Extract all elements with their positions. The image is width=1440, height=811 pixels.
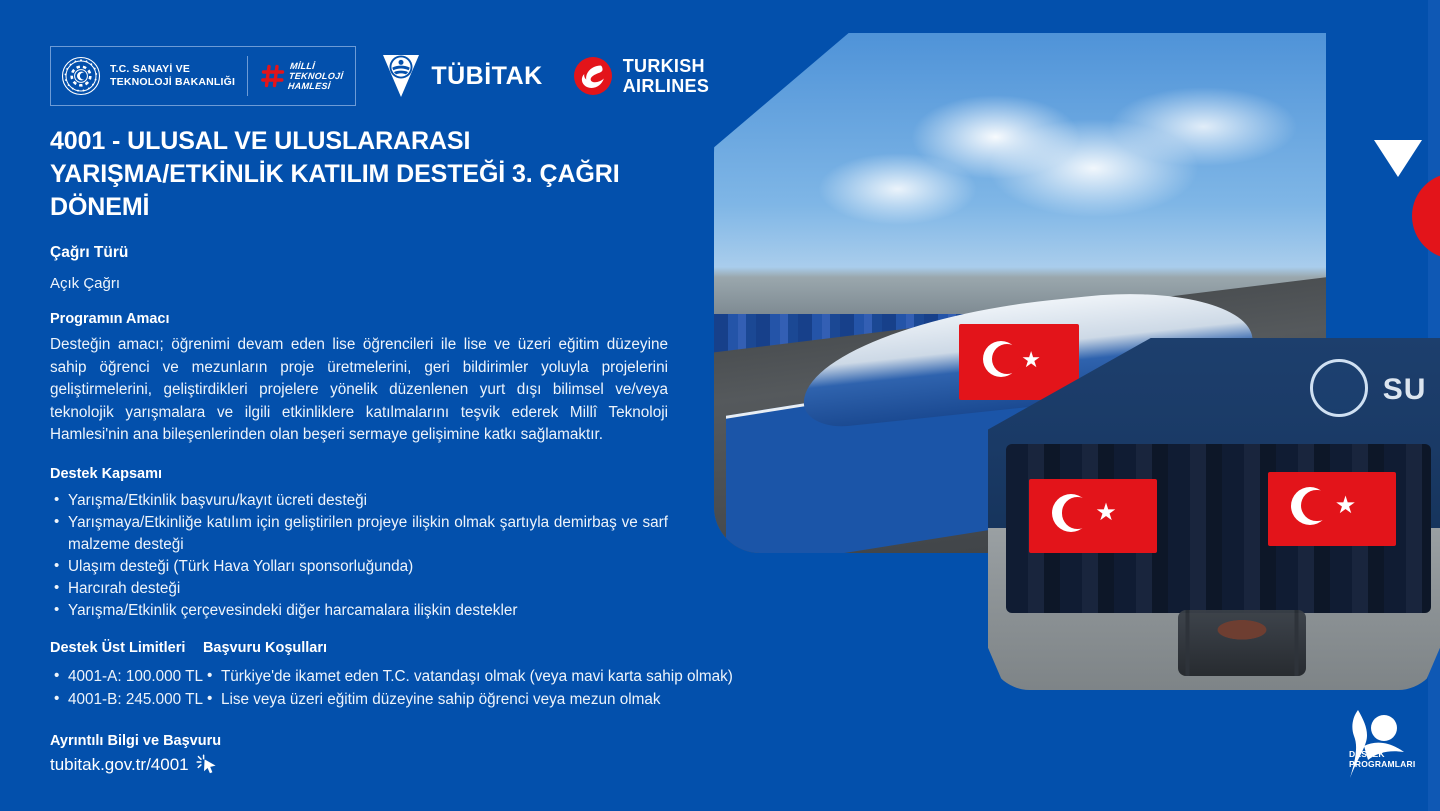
milli-teknoloji-hamlesi-logo: MİLLİ TEKNOLOJİ HAMLESİ <box>260 61 343 91</box>
conditions-heading: Başvuru Koşulları <box>203 640 733 656</box>
main-content: 4001 - ULUSAL VE ULUSLARARASI YARIŞMA/ET… <box>50 125 670 776</box>
scope-list: Yarışma/Etkinlik başvuru/kayıt ücreti de… <box>50 490 668 622</box>
ministry-logo-text: T.C. SANAYİ VE TEKNOLOJİ BAKANLIĞI <box>110 63 235 89</box>
list-item: Türkiye'de ikamet eden T.C. vatandaşı ol… <box>203 665 733 688</box>
footer-heading: Ayrıntılı Bilgi ve Başvuru <box>50 733 670 749</box>
white-down-triangle-decoration <box>1374 140 1422 177</box>
tubitak-chevron-icon <box>380 52 422 100</box>
click-cursor-icon <box>196 754 218 776</box>
red-circle-decoration <box>1412 173 1440 259</box>
purpose-heading: Programın Amacı <box>50 311 670 327</box>
photo-suas-wordmark: SU <box>1383 373 1427 407</box>
list-item: Yarışma/Etkinlik başvuru/kayıt ücreti de… <box>50 490 668 512</box>
page-title: 4001 - ULUSAL VE ULUSLARARASI YARIŞMA/ET… <box>50 125 670 224</box>
list-item: 4001-B: 245.000 TL <box>50 688 203 711</box>
purpose-body: Desteğin amacı; öğrenimi devam eden lise… <box>50 334 668 447</box>
thy-line-2: AIRLINES <box>623 76 709 96</box>
mth-line-1: MİLLİ <box>290 61 345 71</box>
scope-heading: Destek Kapsamı <box>50 466 670 482</box>
ministry-logo-box: T.C. SANAYİ VE TEKNOLOJİ BAKANLIĞI <box>50 46 356 106</box>
thy-line-1: TURKISH <box>623 56 709 76</box>
call-type-heading: Çağrı Türü <box>50 244 670 262</box>
destek-line-1: DESTEK <box>1349 749 1415 759</box>
mth-line-2: TEKNOLOJİ <box>289 71 344 81</box>
call-type-value: Açık Çağrı <box>50 275 670 292</box>
tubitak-website-link[interactable]: tubitak.gov.tr/4001 <box>50 755 189 775</box>
limits-heading: Destek Üst Limitleri <box>50 640 203 656</box>
list-item: Yarışma/Etkinlik çerçevesindeki diğer ha… <box>50 600 668 622</box>
photo-suas-badge <box>1310 359 1368 417</box>
turkish-airlines-logo: TURKISH AIRLINES <box>573 56 709 96</box>
conditions-column: Başvuru Koşulları Türkiye'de ikamet eden… <box>203 640 733 711</box>
turkish-ministry-emblem-icon <box>61 56 101 96</box>
destek-programlari-figure-icon <box>1332 706 1424 784</box>
footer-block: Ayrıntılı Bilgi ve Başvuru tubitak.gov.t… <box>50 733 670 776</box>
turkish-airlines-bird-icon <box>573 56 613 96</box>
destek-line-2: PROGRAMLARI <box>1349 759 1415 769</box>
limits-list: 4001-A: 100.000 TL 4001-B: 245.000 TL <box>50 665 203 711</box>
list-item: Yarışmaya/Etkinliğe katılım için gelişti… <box>50 512 668 556</box>
destek-programlari-wordmark: DESTEK PROGRAMLARI <box>1349 749 1415 769</box>
limits-column: Destek Üst Limitleri 4001-A: 100.000 TL … <box>50 640 203 711</box>
tubitak-logo: TÜBİTAK <box>380 52 542 100</box>
list-item: 4001-A: 100.000 TL <box>50 665 203 688</box>
list-item: Lise veya üzeri eğitim düzeyine sahip öğ… <box>203 688 733 711</box>
photo-turkish-flag-right: ★ <box>1268 472 1396 546</box>
ministry-logo: T.C. SANAYİ VE TEKNOLOJİ BAKANLIĞI <box>61 56 235 96</box>
logo-divider <box>247 56 248 96</box>
tubitak-wordmark: TÜBİTAK <box>431 62 542 91</box>
limits-and-conditions: Destek Üst Limitleri 4001-A: 100.000 TL … <box>50 640 670 711</box>
turkish-airlines-wordmark: TURKISH AIRLINES <box>623 56 709 96</box>
poster-root: ★ SU ★ ★ <box>0 0 1440 811</box>
ministry-line-1: T.C. SANAYİ VE <box>110 63 235 76</box>
mth-line-3: HAMLESİ <box>288 81 343 91</box>
photo-drone-layer <box>1178 610 1306 676</box>
logo-bar: T.C. SANAYİ VE TEKNOLOJİ BAKANLIĞI <box>50 46 709 106</box>
footer-link-row[interactable]: tubitak.gov.tr/4001 <box>50 754 670 776</box>
photo-turkish-flag-left: ★ <box>1029 479 1157 553</box>
ministry-line-2: TEKNOLOJİ BAKANLIĞI <box>110 76 235 89</box>
conditions-list: Türkiye'de ikamet eden T.C. vatandaşı ol… <box>203 665 733 711</box>
hashtag-icon <box>260 63 286 89</box>
mth-logo-text: MİLLİ TEKNOLOJİ HAMLESİ <box>288 61 345 91</box>
list-item: Ulaşım desteği (Türk Hava Yolları sponso… <box>50 556 668 578</box>
list-item: Harcırah desteği <box>50 578 668 600</box>
